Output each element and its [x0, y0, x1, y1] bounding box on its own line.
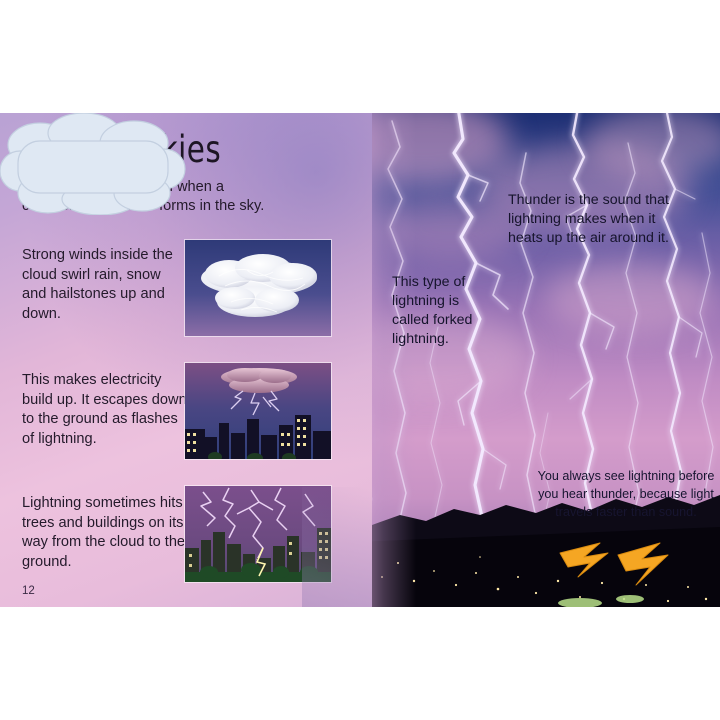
speech-cloud-bubble — [0, 113, 186, 215]
caption-thunder: Thunder is the sound that lightning make… — [508, 191, 686, 248]
cumulonimbus-cloud-illustration — [184, 239, 332, 337]
page-number: 12 — [22, 585, 35, 597]
body-text-block-3: Lightning sometimes hits trees and build… — [22, 494, 188, 573]
orange-lightning-bolt-icon — [556, 541, 676, 589]
spread-content: Electric skies Thunderstorms happen when… — [0, 113, 720, 607]
storm-cloud-over-city-illustration — [184, 362, 332, 460]
body-text-block-1: Strong winds inside the cloud swirl rain… — [22, 246, 182, 325]
book-page-spread: Electric skies Thunderstorms happen when… — [0, 0, 720, 720]
lightning-striking-city-illustration — [184, 485, 332, 583]
speech-bubble-text: You always see lightning before you hear… — [536, 468, 716, 522]
storm-photograph — [330, 113, 720, 607]
body-text-block-2: This makes electricity build up. It esca… — [22, 371, 188, 450]
caption-forked-lightning: This type of lightning is called forked … — [392, 273, 500, 349]
